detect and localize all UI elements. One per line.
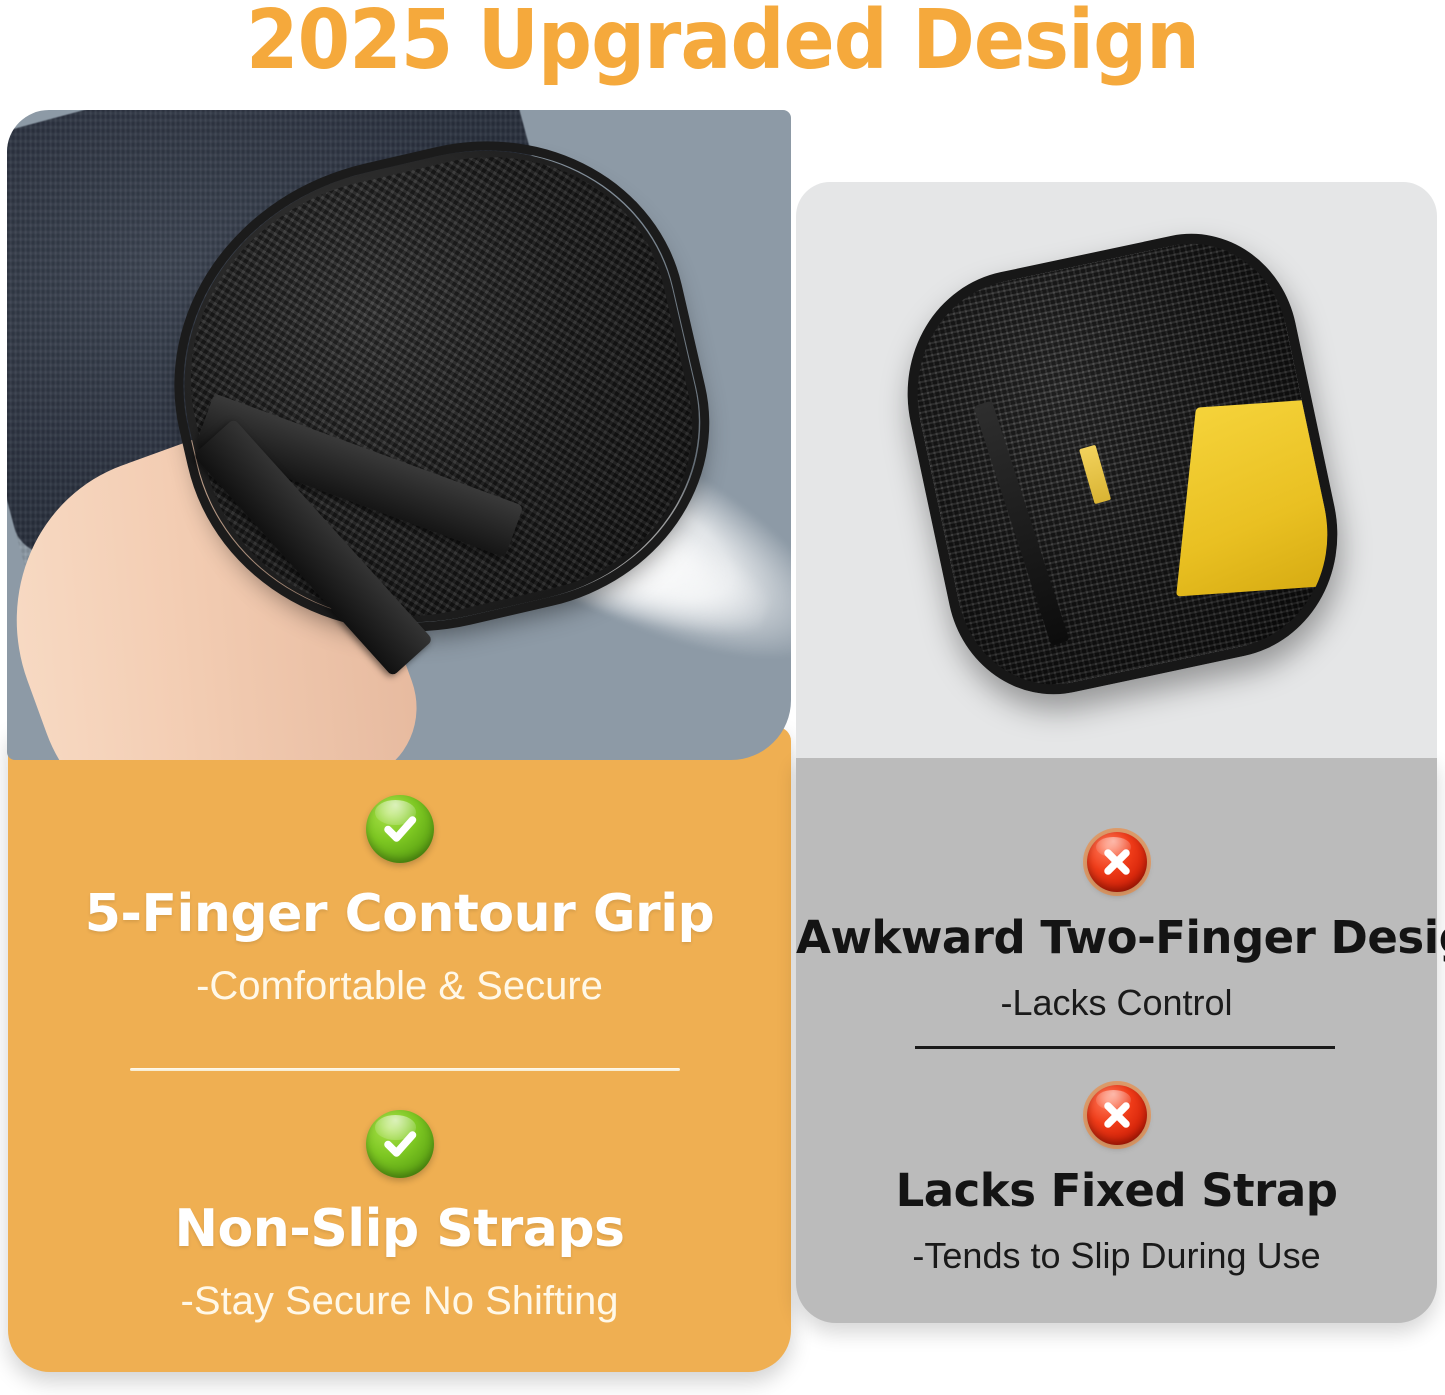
pros-divider [130, 1068, 680, 1071]
pros-feature-1: 5-Finger Contour Grip -Comfortable & Sec… [8, 795, 791, 1008]
pros-feature-2-icon-wrap [8, 1110, 791, 1178]
pros-feature-2-title: Non-Slip Straps [8, 1202, 791, 1257]
cons-feature-1-icon-wrap [796, 832, 1437, 892]
page-title: 2025 Upgraded Design [58, 0, 1387, 86]
product-photo-upgraded [7, 110, 791, 760]
cons-feature-1-title: Awkward Two-Finger Design [796, 914, 1437, 961]
cons-feature-2: Lacks Fixed Strap -Tends to Slip During … [796, 1085, 1437, 1276]
cons-feature-2-subtitle: -Tends to Slip During Use [796, 1236, 1437, 1276]
check-circle-icon [366, 1110, 434, 1178]
cons-feature-2-title: Lacks Fixed Strap [796, 1167, 1437, 1214]
pros-feature-1-icon-wrap [8, 795, 791, 863]
product-photo-competitor [796, 182, 1437, 758]
cons-divider [915, 1046, 1335, 1049]
pros-feature-2-subtitle: -Stay Secure No Shifting [8, 1279, 791, 1323]
pros-feature-2: Non-Slip Straps -Stay Secure No Shifting [8, 1110, 791, 1323]
pros-feature-1-title: 5-Finger Contour Grip [8, 887, 791, 942]
cons-feature-2-icon-wrap [796, 1085, 1437, 1145]
cons-feature-1: Awkward Two-Finger Design -Lacks Control [796, 832, 1437, 1023]
competitor-mesh-pad [884, 214, 1361, 714]
cross-circle-icon [1087, 832, 1147, 892]
pros-feature-1-subtitle: -Comfortable & Secure [8, 964, 791, 1008]
cross-circle-icon [1087, 1085, 1147, 1145]
check-circle-icon [366, 795, 434, 863]
pad-yellow-insert [1176, 396, 1354, 596]
cons-feature-1-subtitle: -Lacks Control [796, 983, 1437, 1023]
